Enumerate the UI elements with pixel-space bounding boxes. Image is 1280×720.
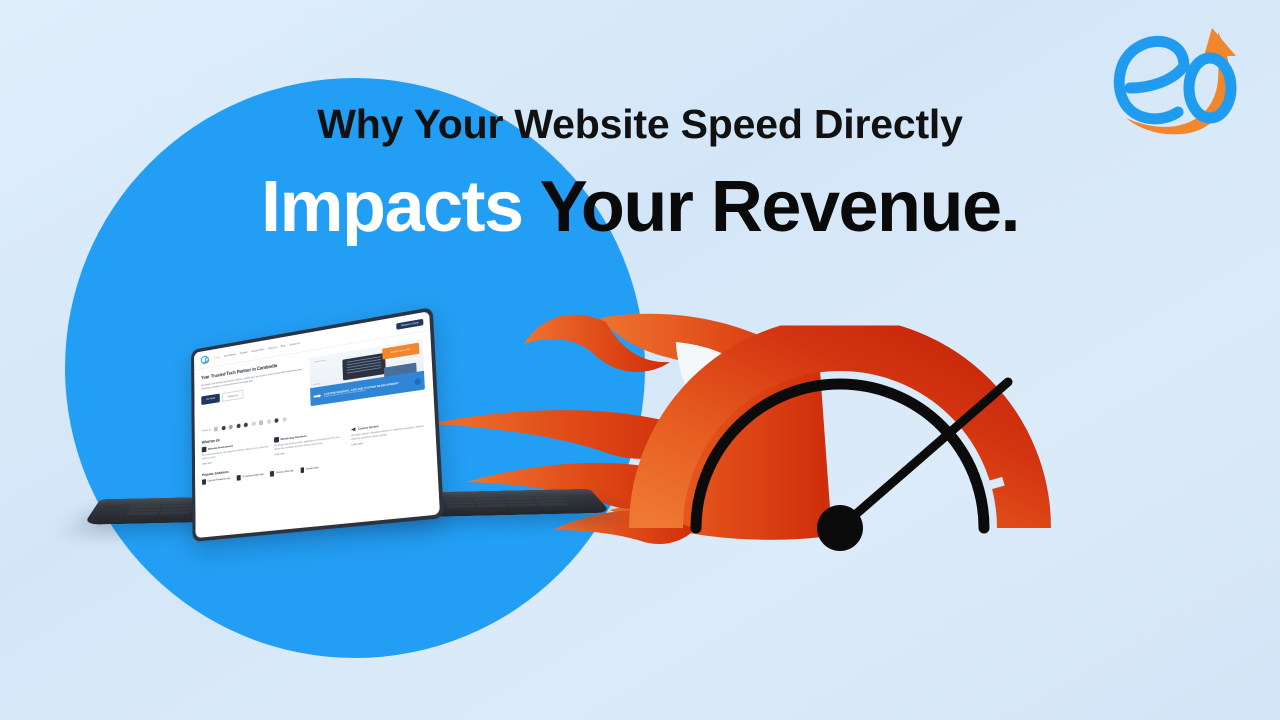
popular-solution-label: Cafe and Restaurant App [208,477,231,483]
client-logo [244,422,248,427]
arrow-right-icon [314,393,322,399]
marketing-banner: Home Our Solutions Portfolio Special Off… [0,0,1280,720]
basket-icon [270,471,274,476]
nav-item-home[interactable]: Home [215,356,220,359]
laptop-mockup: Home Our Solutions Portfolio Special Off… [104,296,604,566]
logo-letter-e-bar [1130,66,1184,88]
hero-banner-title: CUSTOM WEBSITE, APP AND SYSTEM DEVELOPME… [324,381,399,398]
megaphone-icon [351,426,356,432]
hero-primary-button[interactable]: Our Works [201,394,220,405]
laptop-screen: Home Our Solutions Portfolio Special Off… [191,307,444,542]
client-logo [251,421,255,426]
speedometer-svg [590,296,1090,556]
client-logo [282,417,286,422]
store-icon [237,475,241,480]
service-title: Custom System [358,424,379,430]
tooth-icon [300,467,304,472]
nav-item-our-solutions[interactable]: Our Solutions [224,353,236,358]
website-mockup: Home Our Solutions Portfolio Special Off… [194,311,440,538]
client-logo [259,420,263,425]
logo-arrow-head [1204,28,1236,56]
client-logo [214,427,218,432]
hero-image-badge: Highlights Special Offer [382,343,420,360]
hero-secondary-button[interactable]: Contact Us [222,390,243,402]
monitor-icon [202,447,206,452]
popular-solution-label: Grocery Store App [276,469,294,474]
hero-image-tag-left: website design [314,360,326,364]
popular-solution-label: Dental Clinic [306,466,318,471]
eo-logo-svg [1100,22,1252,142]
client-logo [275,418,279,423]
gauge-needle-hub [817,505,863,551]
client-logo [229,425,233,430]
client-logo [267,419,271,424]
speedometer-gauge [590,296,1090,556]
nav-item-contact-us[interactable]: Contact Us [289,342,300,346]
nav-item-special-offers[interactable]: Special Offers [251,348,264,353]
hero-banner-badge-icon [414,377,421,384]
client-logo [236,424,240,429]
trusted-by-label: Trusted by [202,429,211,433]
popular-solution-label: Convenience Mart App [242,473,263,479]
site-logo-icon [199,354,209,367]
gauge-arc-band [656,344,1024,528]
request-quote-button[interactable]: Request a Quote [396,319,423,330]
popular-solution-item[interactable]: Dental Clinic [300,465,318,472]
eo-logo [1100,22,1252,142]
client-logo [221,426,225,431]
mobile-icon [274,437,279,443]
gauge-arc [656,344,1024,528]
nav-item-about-us[interactable]: About Us [268,346,277,350]
nav-item-portfolio[interactable]: Portfolio [240,351,248,355]
nav-item-blog[interactable]: Blog [281,345,285,348]
cutlery-icon [202,479,206,484]
